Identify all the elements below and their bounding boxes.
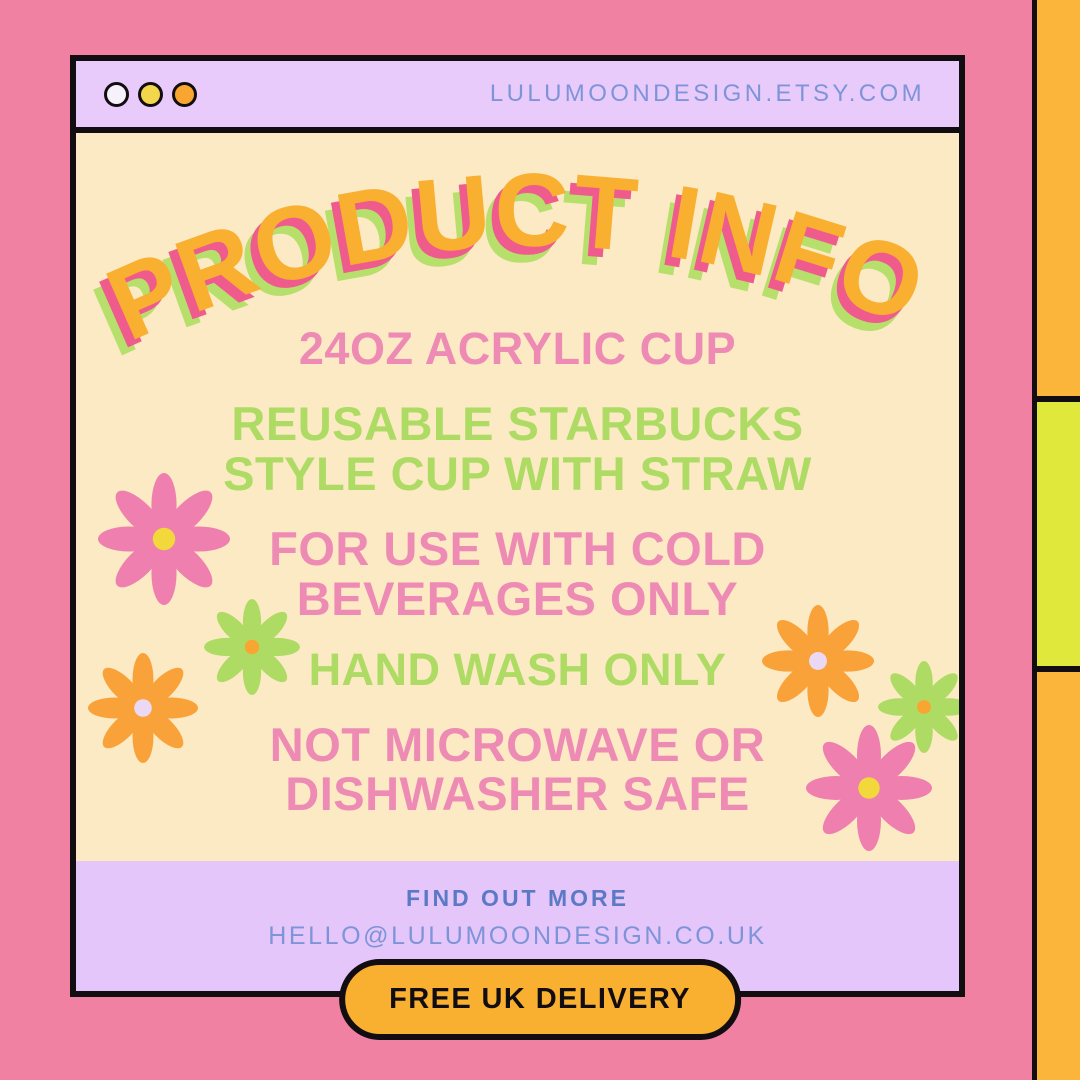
info-line-reusable: REUSABLE STARBUCKS STYLE CUP WITH STRAW <box>76 399 959 499</box>
window-controls <box>104 82 197 107</box>
info-line-cold-only: FOR USE WITH COLD BEVERAGES ONLY <box>76 524 959 624</box>
product-info-list: 24OZ ACRYLIC CUP REUSABLE STARBUCKS STYL… <box>76 325 959 819</box>
window-dot-white-icon[interactable] <box>104 82 129 107</box>
site-url-label[interactable]: LULUMOONDESIGN.ETSY.COM <box>490 80 925 108</box>
info-line-hand-wash: HAND WASH ONLY <box>76 646 959 694</box>
card-body: PRODUCT INFO PRODUCT INFO PRODUCT INFO <box>76 133 959 861</box>
browser-window-card: LULUMOONDESIGN.ETSY.COM <box>70 55 965 997</box>
contact-email-link[interactable]: HELLO@LULUMOONDESIGN.CO.UK <box>76 922 959 951</box>
window-dot-orange-icon[interactable] <box>172 82 197 107</box>
edge-block-orange-bottom <box>1037 672 1080 1080</box>
info-line-size: 24OZ ACRYLIC CUP <box>76 325 959 373</box>
find-out-more-heading: FIND OUT MORE <box>76 885 959 912</box>
poster-canvas: LULUMOONDESIGN.ETSY.COM <box>0 0 1080 1080</box>
browser-titlebar: LULUMOONDESIGN.ETSY.COM <box>76 61 959 133</box>
free-uk-delivery-button[interactable]: FREE UK DELIVERY <box>339 959 741 1040</box>
window-dot-yellow-icon[interactable] <box>138 82 163 107</box>
info-line-not-safe: NOT MICROWAVE OR DISHWASHER SAFE <box>76 720 959 820</box>
edge-color-strip <box>1032 0 1080 1080</box>
edge-block-yellow-middle <box>1037 396 1080 672</box>
edge-block-orange-top <box>1037 0 1080 396</box>
